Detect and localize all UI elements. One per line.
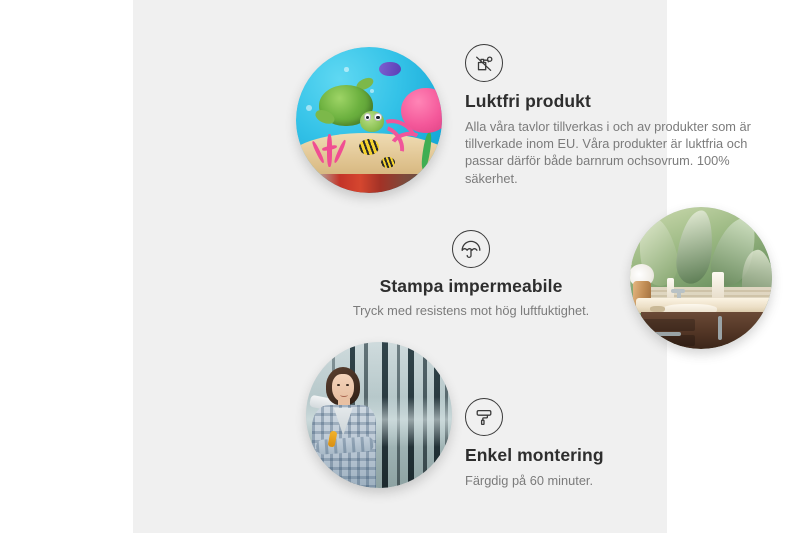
feature-description: Färgdig på 60 minuter. [465, 472, 715, 489]
cabinet-handle [654, 332, 681, 336]
product-feature-infographic: Luktfri produkt Alla våra tavlor tillver… [0, 0, 800, 533]
yellow-fish-icon [359, 139, 379, 155]
photo-underwater-inner [296, 47, 442, 193]
cabinet-drawer [641, 335, 695, 346]
cabinet-drawer [641, 319, 695, 330]
photo-bottom-strip [296, 174, 442, 193]
no-odour-spray-bottle-icon [465, 44, 503, 82]
photo-decorator [306, 342, 452, 488]
turtle-eye [374, 113, 382, 121]
feature-title: Luktfri produkt [465, 91, 751, 112]
photo-bathroom [630, 207, 772, 349]
feature-odourless: Luktfri produkt Alla våra tavlor tillver… [465, 44, 751, 187]
feature-description: Alla våra tavlor tillverkas i och av pro… [465, 118, 751, 187]
paint-roller-icon [465, 398, 503, 436]
feature-title: Enkel montering [465, 445, 715, 466]
content-panel: Luktfri produkt Alla våra tavlor tillver… [133, 0, 667, 533]
bubble-icon [344, 67, 348, 71]
feature-description: Tryck med resistens mot hög luftfuktighe… [348, 302, 594, 319]
person-face [332, 374, 354, 402]
feature-title: Stampa impermeabile [348, 276, 594, 297]
cabinet-handle [718, 316, 722, 340]
purple-fish-icon [379, 62, 401, 77]
umbrella-icon [452, 230, 490, 268]
coral-icon [311, 129, 352, 167]
feature-assembly: Enkel montering Färgdig på 60 minuter. [465, 398, 715, 489]
person-eye [346, 384, 349, 386]
photo-decorator-inner [306, 342, 452, 488]
photo-bathroom-inner [630, 207, 772, 349]
feature-waterproof: Stampa impermeabile Tryck med resistens … [348, 230, 594, 319]
photo-underwater [296, 47, 442, 193]
